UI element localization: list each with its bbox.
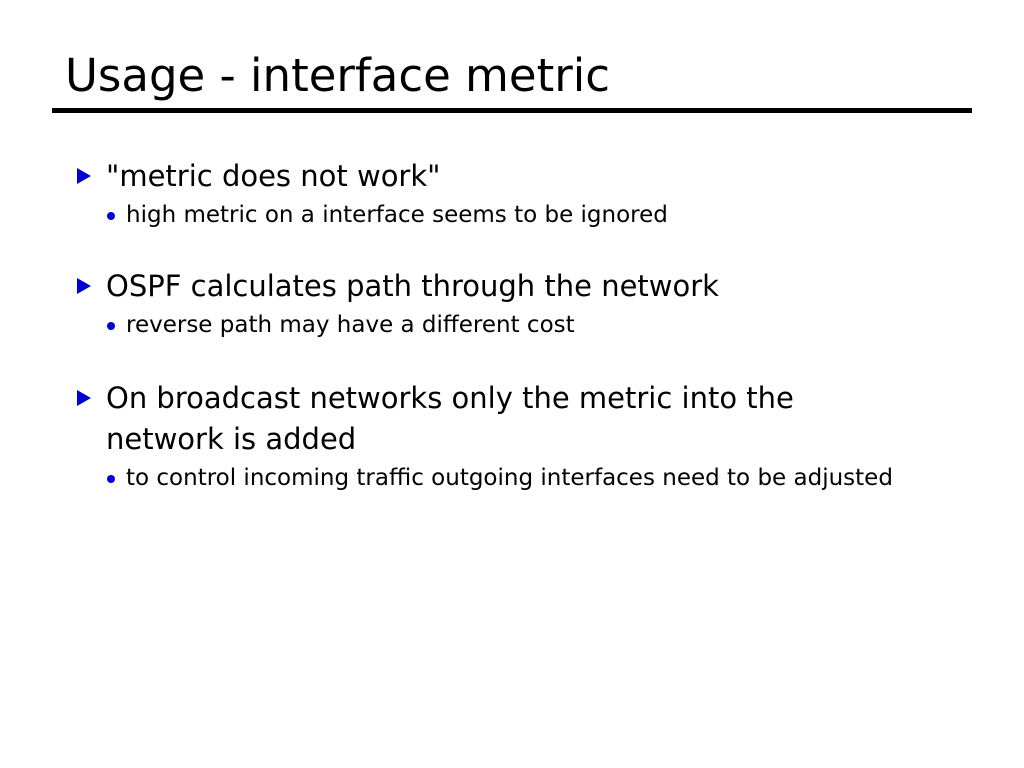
bullet-level1-label: On broadcast networks only the metric in… [106,378,906,460]
bullet-level1: OSPF calculates path through the network [76,266,906,307]
bullet-group: On broadcast networks only the metric in… [76,378,906,495]
bullet-level2-label: to control incoming traffic outgoing int… [126,462,906,495]
bullet-level1: On broadcast networks only the metric in… [76,378,906,460]
bullet-level2: high metric on a interface seems to be i… [76,199,906,232]
triangle-right-bullet-icon [77,278,91,294]
title-block: Usage - interface metric [52,48,972,113]
bullet-group: OSPF calculates path through the network… [76,266,906,342]
triangle-right-bullet-icon [77,390,91,406]
page-title: Usage - interface metric [52,48,972,104]
round-dot-bullet-icon [107,322,115,330]
bullet-level2-label: reverse path may have a different cost [126,309,906,342]
bullet-level1: "metric does not work" [76,156,906,197]
presentation-slide: Usage - interface metric "metric does no… [0,0,1024,768]
title-divider [52,108,972,113]
bullet-level2: reverse path may have a different cost [76,309,906,342]
round-dot-bullet-icon [107,475,115,483]
bullet-group: "metric does not work" high metric on a … [76,156,906,232]
triangle-right-bullet-icon [77,168,91,184]
round-dot-bullet-icon [107,212,115,220]
bullet-level2: to control incoming traffic outgoing int… [76,462,906,495]
bullet-level2-label: high metric on a interface seems to be i… [126,199,906,232]
bullet-level1-label: "metric does not work" [106,156,906,197]
bullet-list: "metric does not work" high metric on a … [76,156,906,495]
bullet-level1-label: OSPF calculates path through the network [106,266,906,307]
